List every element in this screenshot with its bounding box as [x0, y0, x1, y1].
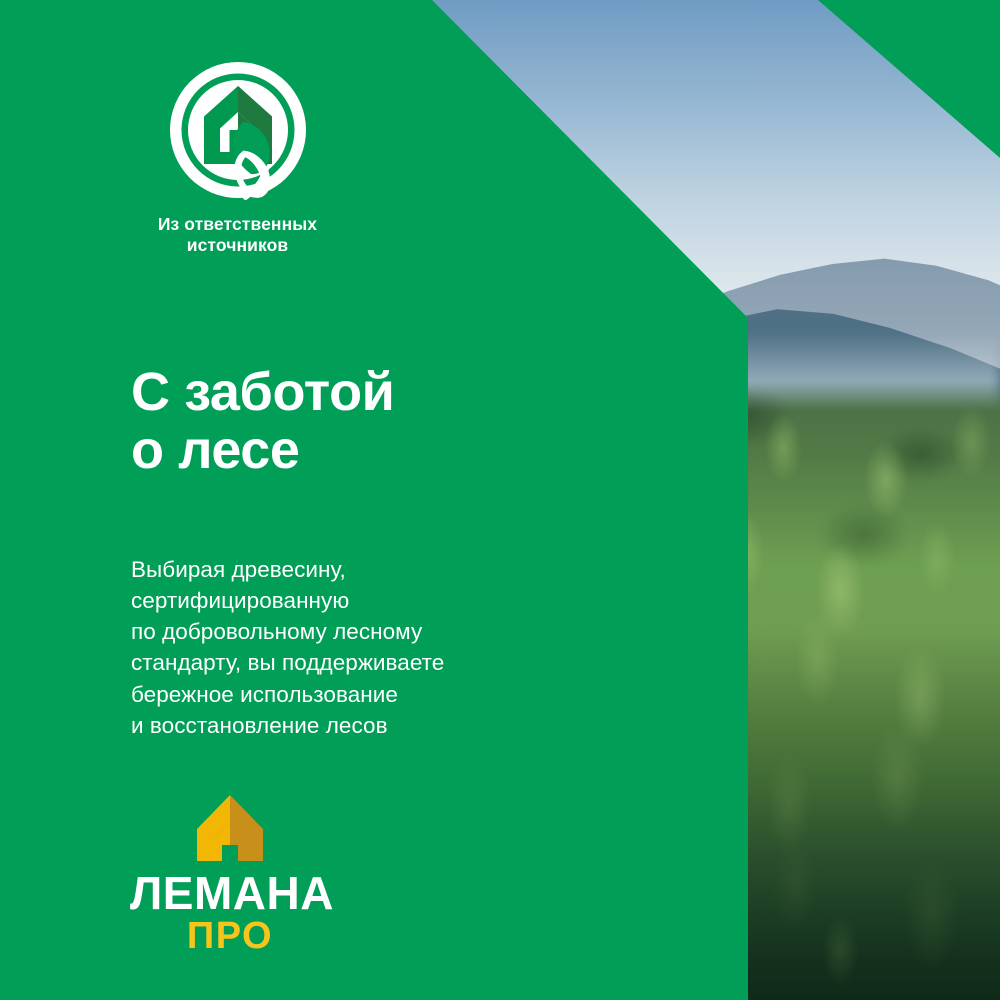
body-paragraph: Выбирая древесину, сертифицированную по …	[131, 554, 444, 742]
page-title: С заботой о лесе	[131, 363, 394, 480]
brand-name: ЛЕМАНА	[130, 870, 330, 916]
eco-badge-caption: Из ответственных источников	[130, 214, 345, 257]
eco-badge: Из ответственных источников	[130, 60, 345, 257]
brand-lockup: ЛЕМАНА ПРО	[130, 793, 330, 955]
brand-subname: ПРО	[130, 917, 330, 955]
poster-canvas: Из ответственных источников С заботой о …	[0, 0, 1000, 1000]
poster-content: Из ответственных источников С заботой о …	[0, 0, 1000, 1000]
house-leaf-circle-icon	[168, 60, 308, 200]
lemana-house-icon	[191, 793, 269, 863]
